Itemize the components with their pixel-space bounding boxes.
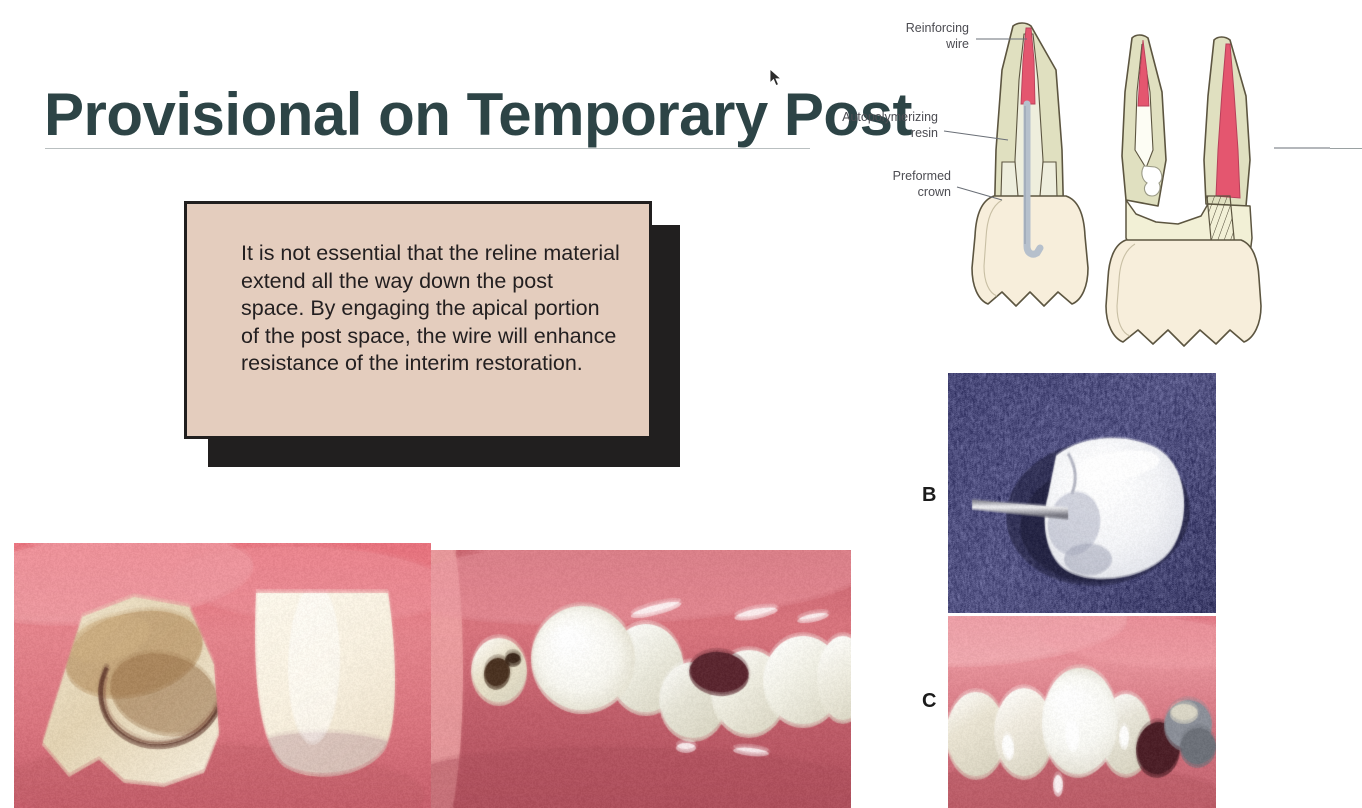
diagram-label-preformed-crown: Preformed crown — [893, 169, 1002, 200]
photo-intraoral-prepared-tooth — [14, 543, 431, 808]
label-reinforcing-wire-line1: Reinforcing — [906, 21, 969, 35]
callout-textbox: It is not essential that the reline mate… — [184, 201, 680, 467]
label-autopolymerizing-resin-line1: Autopolymerizing — [842, 110, 938, 124]
photo-intraoral-provisional-seated — [431, 550, 851, 808]
tooth-cross-section-diagram: Reinforcing wire Autopolymerizing resin … — [826, 0, 1362, 372]
photo-intraoral-restored-teeth — [948, 616, 1216, 808]
photo-crown-with-wire-post — [948, 373, 1216, 613]
label-preformed-crown-line2: crown — [918, 185, 951, 199]
diagram-label-autopolymerizing-resin: Autopolymerizing resin — [842, 110, 1008, 140]
panel-letter-b: B — [922, 484, 936, 507]
tooth-right-illustration — [1106, 35, 1261, 346]
label-preformed-crown-line1: Preformed — [893, 169, 951, 183]
label-reinforcing-wire-line2: wire — [945, 37, 969, 51]
callout-text: It is not essential that the reline mate… — [241, 240, 621, 378]
mouse-cursor — [769, 68, 783, 88]
page-title: Provisional on Temporary Post — [44, 80, 912, 150]
callout-box: It is not essential that the reline mate… — [184, 201, 652, 439]
tooth-left-illustration — [972, 23, 1088, 306]
label-autopolymerizing-resin-line2: resin — [911, 126, 938, 140]
title-divider — [45, 148, 810, 149]
panel-letter-c: C — [922, 690, 936, 713]
slide-canvas: Provisional on Temporary Post It is not … — [0, 0, 1362, 808]
